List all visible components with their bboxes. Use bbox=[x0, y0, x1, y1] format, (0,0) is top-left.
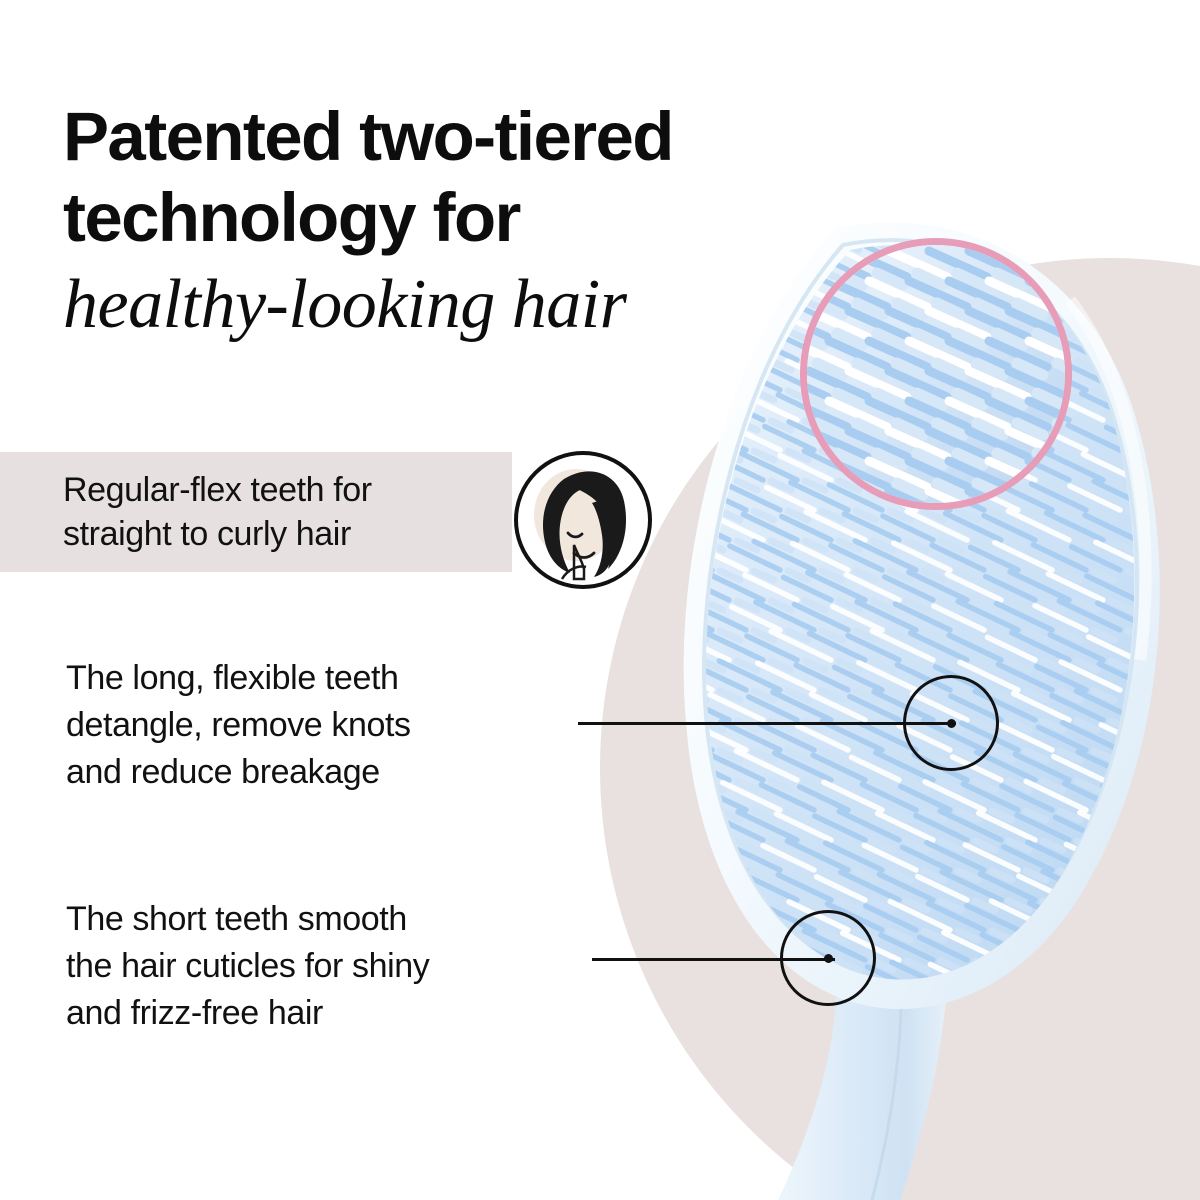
annotation-1-line-1: The long, flexible teeth bbox=[66, 655, 566, 702]
annotation-short-teeth: The short teeth smooth the hair cuticles… bbox=[66, 896, 586, 1037]
band-text: Regular-flex teeth for straight to curly… bbox=[63, 468, 523, 556]
infographic-page: Patented two-tiered technology for healt… bbox=[0, 0, 1200, 1200]
headline-line-3-italic: healthy-looking hair bbox=[63, 258, 893, 352]
target-dot bbox=[947, 719, 956, 728]
target-circle-short-teeth bbox=[780, 910, 876, 1006]
annotation-1-line-2: detangle, remove knots bbox=[66, 702, 566, 749]
woman-hair-silhouette-icon bbox=[512, 449, 654, 591]
annotation-2-line-2: the hair cuticles for shiny bbox=[66, 943, 586, 990]
band-line-2: straight to curly hair bbox=[63, 512, 523, 556]
band-line-1: Regular-flex teeth for bbox=[63, 468, 523, 512]
target-dot bbox=[824, 954, 833, 963]
target-circle-long-teeth bbox=[903, 675, 999, 771]
annotation-1-line-3: and reduce breakage bbox=[66, 749, 566, 796]
annotation-long-flexible-teeth: The long, flexible teeth detangle, remov… bbox=[66, 655, 566, 796]
annotation-2-line-1: The short teeth smooth bbox=[66, 896, 586, 943]
page-title: Patented two-tiered technology for healt… bbox=[63, 96, 893, 352]
headline-line-2: technology for bbox=[63, 177, 893, 258]
headline-line-1: Patented two-tiered bbox=[63, 96, 893, 177]
leader-line-1 bbox=[578, 722, 956, 725]
annotation-2-line-3: and frizz-free hair bbox=[66, 990, 586, 1037]
